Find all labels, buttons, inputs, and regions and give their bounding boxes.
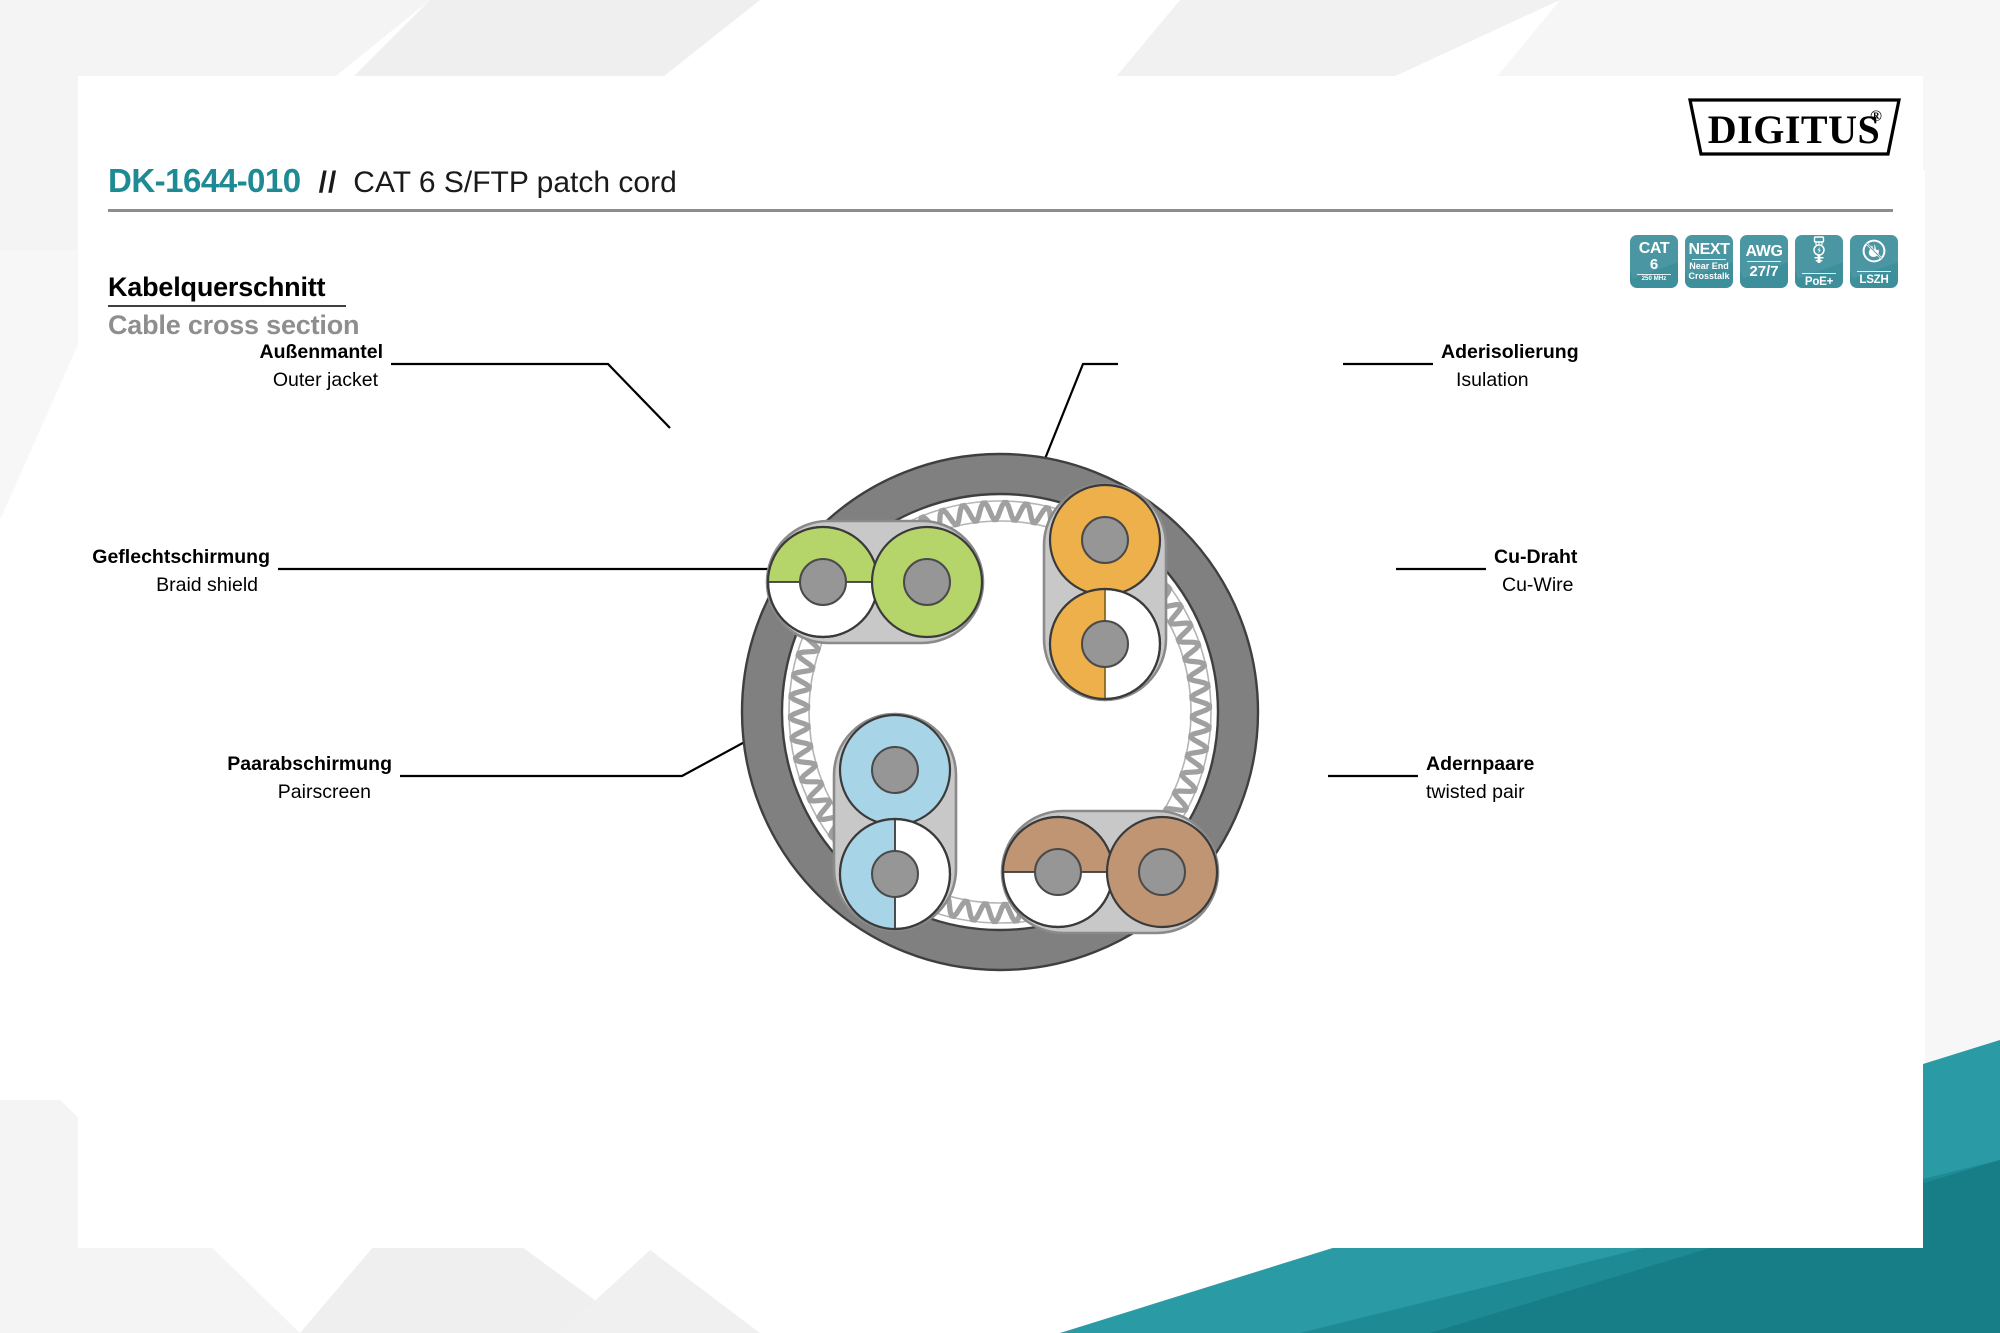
orange-wire-solid-conductor <box>1082 517 1128 563</box>
content-card: DIGITUS ® DK-1644-010 // CAT 6 S/FTP pat… <box>78 76 1923 1248</box>
next-badge-rule <box>1692 259 1726 260</box>
awg-badge-sub: 27/7 <box>1749 264 1778 280</box>
poe-badge-rule <box>1802 273 1836 274</box>
next-badge-line2: Crosstalk <box>1688 272 1729 282</box>
awg-badge: AWG 27/7 <box>1740 235 1788 288</box>
orange-pair <box>1044 484 1166 700</box>
brown-pair <box>1002 811 1218 933</box>
brown-wire-solid <box>1107 817 1217 927</box>
cat6-badge: CAT 6 250 MHz <box>1630 235 1678 288</box>
blue-wire-solid <box>840 715 950 825</box>
certification-badges: CAT 6 250 MHz NEXT Near End Crosstalk AW… <box>1630 235 1898 288</box>
section-title-en: Cable cross section <box>108 310 359 341</box>
blue-wire-solid-conductor <box>872 747 918 793</box>
callout-insulation-en: Isulation <box>1456 369 1529 391</box>
product-title-row: DK-1644-010 // CAT 6 S/FTP patch cord <box>108 162 1893 200</box>
callout-pairscreen-de: Paarabschirmung <box>227 753 392 775</box>
cat6-badge-foot: 250 MHz <box>1642 276 1667 282</box>
brown-wire-solid-conductor <box>1139 849 1185 895</box>
callout-braid-shield-de: Geflechtschirmung <box>92 546 270 568</box>
next-badge: NEXT Near End Crosstalk <box>1685 235 1733 288</box>
product-sku: DK-1644-010 <box>108 162 301 200</box>
callout-braid-shield-en: Braid shield <box>156 574 258 596</box>
green-wire-solid <box>872 527 982 637</box>
section-divider <box>108 305 346 307</box>
callout-cu-wire-de: Cu-Draht <box>1494 546 1578 568</box>
callout-twisted-pair-en: twisted pair <box>1426 781 1525 803</box>
blue-wire-striped-conductor <box>872 851 918 897</box>
green-wire-striped <box>768 527 878 637</box>
callout-twisted-pair-de: Adernpaare <box>1426 753 1535 775</box>
no-flame-icon <box>1861 238 1887 269</box>
callout-insulation-de: Aderisolierung <box>1441 341 1579 363</box>
callout-cu-wire-en: Cu-Wire <box>1502 574 1574 596</box>
lszh-badge-label: LSZH <box>1859 274 1888 286</box>
brown-wire-striped <box>1003 817 1113 927</box>
awg-badge-rule <box>1747 261 1781 262</box>
registered-trademark-icon: ® <box>1870 108 1882 125</box>
title-separator: // <box>319 166 338 200</box>
cable-body <box>742 454 1258 970</box>
section-heading: Kabelquerschnitt Cable cross section <box>108 272 359 341</box>
brown-wire-striped-conductor <box>1035 849 1081 895</box>
poe-badge: PoE+ <box>1795 235 1843 288</box>
rj45-plug-lightning-icon <box>1809 236 1829 271</box>
orange-wire-solid <box>1050 485 1160 595</box>
blue-wire-striped <box>840 819 950 929</box>
green-wire-striped-conductor <box>800 559 846 605</box>
green-pair <box>767 521 983 643</box>
lszh-badge-rule <box>1857 271 1891 272</box>
cat6-badge-main: CAT <box>1639 241 1670 257</box>
orange-wire-striped-conductor <box>1082 621 1128 667</box>
product-description: CAT 6 S/FTP patch cord <box>353 166 676 200</box>
cat6-badge-sub: 6 <box>1650 257 1658 273</box>
callout-pairscreen-en: Pairscreen <box>278 781 371 803</box>
digitus-logo-text: DIGITUS <box>1708 107 1880 152</box>
orange-wire-striped <box>1050 589 1160 699</box>
next-badge-main: NEXT <box>1688 242 1729 258</box>
green-wire-solid-conductor <box>904 559 950 605</box>
awg-badge-main: AWG <box>1745 244 1782 260</box>
poe-badge-label: PoE+ <box>1805 276 1833 288</box>
title-divider <box>108 209 1893 212</box>
leader-outer-jacket <box>503 364 670 428</box>
digitus-logo: DIGITUS ® <box>1688 98 1901 156</box>
blue-pair <box>834 714 956 930</box>
callout-outer-jacket-de: Außenmantel <box>259 341 383 363</box>
section-title-de: Kabelquerschnitt <box>108 272 359 303</box>
lszh-badge: LSZH <box>1850 235 1898 288</box>
callout-outer-jacket-en: Outer jacket <box>273 369 379 391</box>
